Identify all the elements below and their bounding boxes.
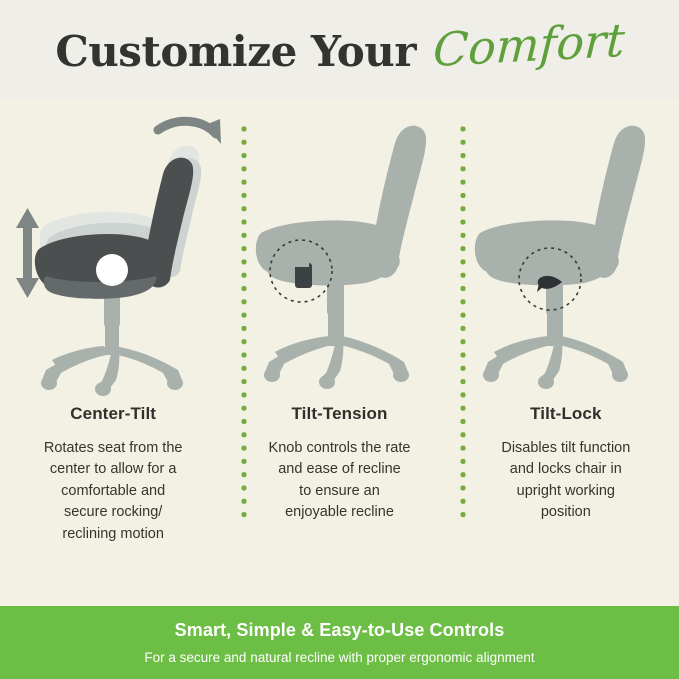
chair-base	[483, 307, 628, 389]
feature-columns: Center-Tilt Rotates seat from the center…	[0, 100, 679, 606]
feature-column-center-tilt: Center-Tilt Rotates seat from the center…	[0, 100, 226, 606]
page-title-script: Comfort	[432, 17, 626, 73]
page-title: Customize Your Comfort	[55, 27, 623, 73]
feature-title-center-tilt: Center-Tilt	[70, 404, 156, 424]
chair-base	[264, 307, 409, 389]
banner-title: Smart, Simple & Easy-to-Use Controls	[175, 620, 505, 641]
chair-center-tilt-illustration	[0, 100, 226, 400]
column-divider-right	[460, 126, 466, 524]
banner-subtitle: For a secure and natural recline with pr…	[144, 650, 534, 665]
chair-body	[475, 125, 645, 285]
column-divider-left	[241, 126, 247, 524]
chair-tilt-tension-icon	[239, 111, 439, 396]
chair-center-tilt-icon	[6, 108, 221, 398]
page-header: Customize Your Comfort	[0, 0, 679, 100]
chair-tilt-lock-icon	[466, 111, 666, 396]
feature-description-tilt-lock: Disables tilt function and locks chair i…	[485, 438, 646, 524]
chair-tilt-lock-illustration	[453, 100, 679, 400]
feature-description-tilt-tension: Knob controls the rate and ease of recli…	[253, 438, 427, 524]
footer-banner: Smart, Simple & Easy-to-Use Controls For…	[0, 606, 679, 679]
chair-base	[41, 318, 183, 396]
vertical-double-arrow-icon	[16, 208, 39, 298]
curved-rotate-arrow-icon	[158, 119, 221, 144]
infographic-page: Customize Your Comfort	[0, 0, 679, 679]
feature-title-tilt-tension: Tilt-Tension	[292, 404, 388, 424]
page-title-main: Customize Your	[55, 31, 416, 73]
feature-column-tilt-tension: Tilt-Tension Knob controls the rate and …	[226, 100, 452, 606]
white-pivot-circle	[96, 254, 128, 286]
feature-column-tilt-lock: Tilt-Lock Disables tilt function and loc…	[453, 100, 679, 606]
chair-tilt-tension-illustration	[226, 100, 452, 400]
chair-body	[256, 125, 426, 285]
feature-description-center-tilt: Rotates seat from the center to allow fo…	[28, 438, 199, 545]
feature-title-tilt-lock: Tilt-Lock	[530, 404, 601, 424]
